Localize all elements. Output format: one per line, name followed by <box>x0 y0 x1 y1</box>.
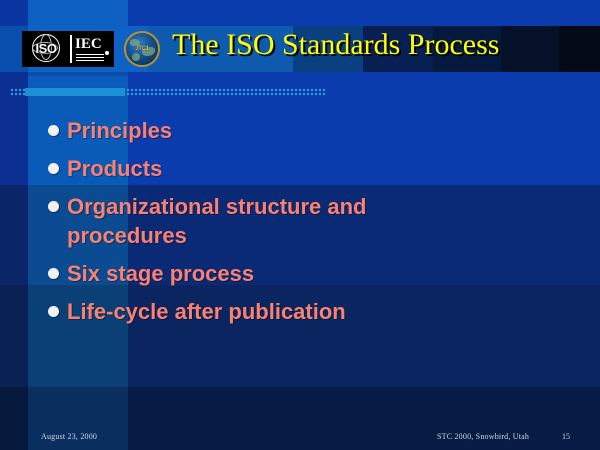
globe-icon: ISO <box>28 34 64 64</box>
bullet-dot-icon <box>48 201 59 212</box>
logo-group: ISO IEC JTC1 <box>22 30 160 68</box>
iso-iec-logo: ISO IEC <box>22 31 114 67</box>
title-band-step <box>501 26 559 72</box>
bullet-dot-icon <box>48 125 59 136</box>
iso-logo-icon: ISO <box>22 31 70 67</box>
list-item: Six stage process <box>48 259 528 288</box>
list-item-label: Principles <box>67 116 172 145</box>
list-item-label: Life-cycle after publication <box>67 297 346 326</box>
iec-logo-label: IEC <box>75 36 102 53</box>
left-edge-segment <box>0 185 28 285</box>
list-item: Products <box>48 154 528 183</box>
footer-date: August 23, 2000 <box>41 432 97 441</box>
globe-landmass-icon <box>132 53 140 61</box>
slide-title: The ISO Standards Process <box>172 28 499 62</box>
title-band-step <box>559 26 600 72</box>
decorative-rule <box>10 88 325 96</box>
bullet-dot-icon <box>48 163 59 174</box>
left-edge-segment <box>0 285 28 387</box>
decorative-rule-solid <box>25 88 125 96</box>
bullet-list: Principles Products Organizational struc… <box>48 116 528 335</box>
earth-globe-icon: JTC1 <box>124 31 160 67</box>
iec-logo-icon: IEC <box>72 31 114 67</box>
earth-logo-label: JTC1 <box>126 46 158 52</box>
left-edge-segment <box>0 387 28 450</box>
left-column-segment <box>28 0 128 26</box>
list-item-label: Six stage process <box>67 259 254 288</box>
list-item: Organizational structure and procedures <box>48 192 528 250</box>
iso-logo-label: ISO <box>28 42 64 55</box>
footer-venue: STC 2000, Snowbird, Utah <box>437 432 529 441</box>
left-column-segment <box>28 76 128 86</box>
presentation-slide: ISO IEC JTC1 The ISO Standards Process <box>0 0 600 450</box>
bullet-dot-icon <box>48 268 59 279</box>
iec-dot-icon <box>105 51 109 55</box>
iec-underline-icon <box>76 54 104 63</box>
left-edge-segment <box>0 0 28 26</box>
list-item-label: Products <box>67 154 162 183</box>
footer-page-number: 15 <box>562 432 570 441</box>
bullet-dot-icon <box>48 306 59 317</box>
globe-landmass-icon <box>130 39 140 46</box>
list-item: Principles <box>48 116 528 145</box>
list-item: Life-cycle after publication <box>48 297 528 326</box>
list-item-label: Organizational structure and procedures <box>67 192 467 250</box>
